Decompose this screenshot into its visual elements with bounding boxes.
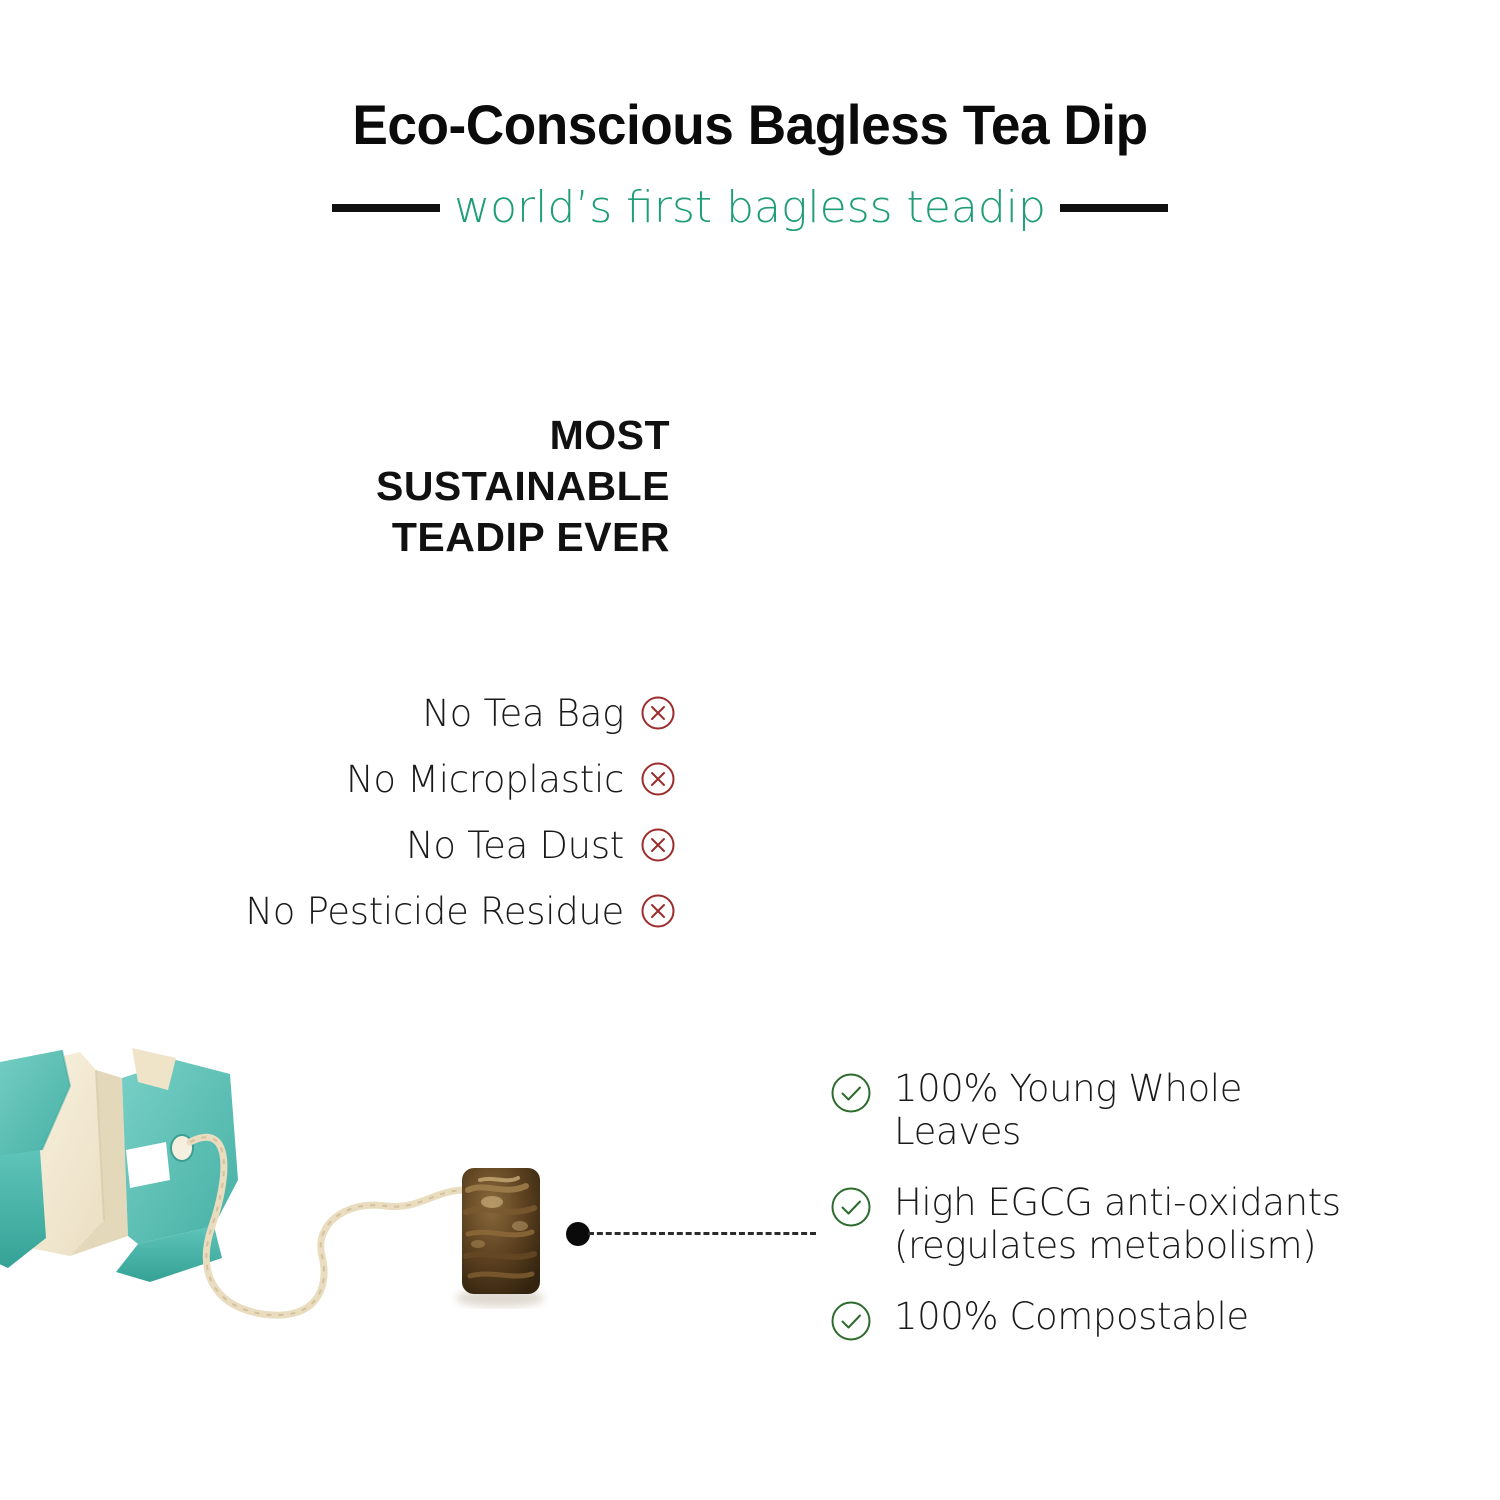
positive-item-label: 100% Young Whole Leaves [894,1068,1242,1154]
header: Eco-Conscious Bagless Tea Dip world’s fi… [0,0,1500,280]
hero-photo-hand-holding-teadip [790,340,1440,990]
positive-item-line-1: 100% Compostable [894,1295,1249,1338]
negative-item-label: No Tea Bag [422,692,624,735]
headline: MOST SUSTAINABLE TEADIP EVER [240,410,670,562]
x-circle-icon [640,827,676,863]
negative-item-label: No Microplastic [346,758,624,801]
list-item: 100% Compostable [830,1296,1470,1342]
product-photo-teadip-card-and-nugget [0,1030,620,1330]
page-title: Eco-Conscious Bagless Tea Dip [38,92,1463,157]
headline-line-2: SUSTAINABLE [240,461,670,512]
x-circle-icon [640,761,676,797]
rule-dash-left [332,204,440,212]
x-circle-icon [640,695,676,731]
headline-line-3: TEADIP EVER [240,512,670,563]
positive-item-label: 100% Compostable [894,1296,1249,1339]
list-item: No Microplastic [120,746,676,812]
positive-item-line-2: Leaves [894,1110,1021,1153]
negative-item-label: No Tea Dust [406,824,624,867]
headline-line-1: MOST [240,410,670,461]
positive-item-line-1: 100% Young Whole [894,1067,1242,1110]
check-circle-icon [830,1072,872,1114]
positive-item-line-2: (regulates metabolism) [894,1224,1316,1267]
callout-dashed-line [588,1232,816,1235]
rule-dash-right [1060,204,1168,212]
list-item: High EGCG anti-oxidants (regulates metab… [830,1182,1470,1268]
negative-item-label: No Pesticide Residue [245,890,624,933]
list-item: No Tea Dust [120,812,676,878]
positive-feature-list: 100% Young Whole Leaves High EGCG anti-o… [830,1068,1470,1370]
negative-feature-list: No Tea Bag No Microplastic No Tea Dust N… [120,680,676,944]
list-item: No Pesticide Residue [120,878,676,944]
check-circle-icon [830,1186,872,1228]
check-circle-icon [830,1300,872,1342]
subtitle-row: world’s first bagless teadip [0,186,1500,230]
positive-item-line-1: High EGCG anti-oxidants [894,1181,1341,1224]
positive-item-label: High EGCG anti-oxidants (regulates metab… [894,1182,1341,1268]
x-circle-icon [640,893,676,929]
list-item: 100% Young Whole Leaves [830,1068,1470,1154]
list-item: No Tea Bag [120,680,676,746]
subtitle: world’s first bagless teadip [454,186,1046,230]
